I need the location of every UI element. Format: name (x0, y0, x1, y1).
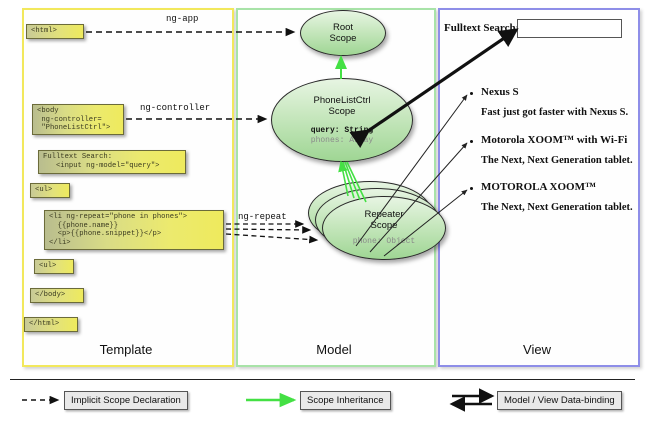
diagram-canvas: <html> <body ng-controller= "PhoneListCt… (0, 0, 645, 425)
view-bullet-1 (470, 140, 473, 143)
code-box-body-open: <body ng-controller= "PhoneListCtrl"> (32, 104, 124, 135)
edge-label-ng-app: ng-app (166, 14, 198, 24)
view-search-label: Fulltext Search: (444, 22, 519, 34)
scope-repeater-title-2: Scope (371, 220, 398, 231)
scope-repeater-prop-phone: phone: Object (353, 237, 415, 247)
view-search-input[interactable] (517, 19, 622, 38)
view-item-name-0: Nexus S (481, 86, 519, 98)
scope-root-title-2: Scope (330, 33, 357, 44)
panel-label-view: View (438, 342, 636, 357)
scope-phonelistctrl: PhoneListCtrl Scope query: String phones… (271, 78, 413, 162)
scope-ctrl-title-1: PhoneListCtrl (313, 95, 370, 106)
code-box-html-close: </html> (24, 317, 78, 332)
view-item-name-2: MOTOROLA XOOM™ (481, 181, 596, 193)
code-box-li-ng-repeat: <li ng-repeat="phone in phones"> {{phone… (44, 210, 224, 250)
legend-item-implicit-scope-declaration: Implicit Scope Declaration (64, 391, 188, 410)
edge-label-ng-repeat: ng-repeat (238, 212, 287, 222)
scope-repeater-title-1: Repeater (364, 209, 403, 220)
legend-glyph-double-arrow (452, 396, 492, 404)
scope-ctrl-title-2: Scope (329, 106, 356, 117)
code-box-ul-open: <ul> (30, 183, 70, 198)
view-item-snippet-1: The Next, Next Generation tablet. (481, 155, 633, 166)
panel-label-template: Template (22, 342, 230, 357)
legend-item-scope-inheritance: Scope Inheritance (300, 391, 391, 410)
code-box-ul-close: <ul> (34, 259, 74, 274)
scope-ctrl-prop-query: query: String (311, 126, 373, 136)
view-bullet-0 (470, 92, 473, 95)
edge-label-ng-controller: ng-controller (140, 103, 210, 113)
panel-label-model: Model (236, 342, 432, 357)
view-bullet-2 (470, 187, 473, 190)
legend-item-model-view-data-binding: Model / View Data-binding (497, 391, 622, 410)
code-box-html-open: <html> (26, 24, 84, 39)
legend-divider (10, 379, 635, 380)
view-item-snippet-0: Fast just got faster with Nexus S. (481, 107, 628, 118)
view-item-name-1: Motorola XOOM™ with Wi-Fi (481, 134, 627, 146)
view-item-snippet-2: The Next, Next Generation tablet. (481, 202, 633, 213)
scope-root: Root Scope (300, 10, 386, 56)
code-box-search-input: Fulltext Search: <input ng-model="query"… (38, 150, 186, 174)
code-box-body-close: </body> (30, 288, 84, 303)
scope-root-title-1: Root (333, 22, 353, 33)
scope-repeater: Repeater Scope phone: Object (322, 196, 446, 260)
scope-ctrl-prop-phones: phones: Array (311, 136, 373, 146)
